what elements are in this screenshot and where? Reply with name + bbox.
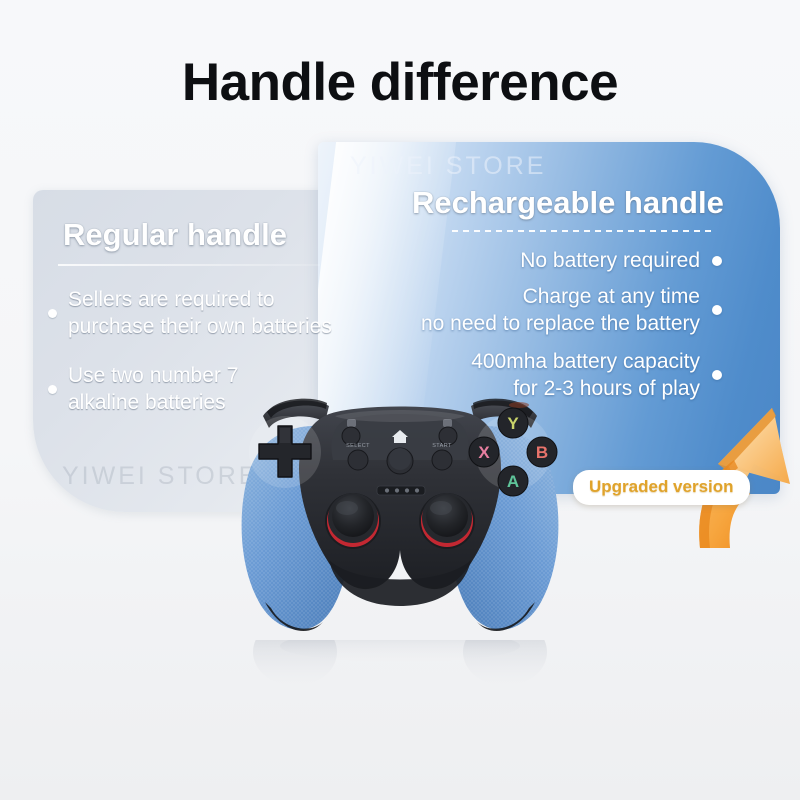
face-button-y: Y — [498, 408, 528, 438]
face-button-a: A — [498, 466, 528, 496]
bullet-line: no need to replace the battery — [421, 312, 700, 335]
bullet-line: Charge at any time — [523, 285, 700, 308]
product-comparison-image: Handle difference YIWEI STORE YIWEI STOR… — [0, 0, 800, 800]
svg-text:A: A — [507, 472, 519, 491]
bullet-line: Sellers are required to — [68, 288, 275, 311]
svg-text:X: X — [478, 443, 490, 462]
bullet-line: No battery required — [520, 249, 700, 272]
led-indicator-strip — [377, 486, 425, 495]
dpad — [249, 416, 321, 488]
regular-handle-divider — [58, 264, 320, 266]
bullet-line: Use two number 7 — [68, 364, 238, 387]
svg-text:Y: Y — [507, 414, 519, 433]
upgraded-version-badge: Upgraded version — [573, 470, 750, 505]
list-item: No battery required — [520, 247, 722, 274]
bullet-text: Use two number 7 alkaline batteries — [68, 362, 238, 416]
bullet-text: No battery required — [520, 247, 700, 274]
regular-handle-heading: Regular handle — [63, 217, 287, 253]
rechargeable-handle-heading: Rechargeable handle — [412, 185, 724, 221]
bullet-text: Sellers are required to purchase their o… — [68, 286, 332, 340]
svg-text:START: START — [432, 443, 452, 449]
bullet-line: purchase their own batteries — [68, 315, 332, 338]
bullet-dot-icon — [48, 309, 57, 318]
bullet-dot-icon — [712, 256, 722, 266]
svg-text:SELECT: SELECT — [346, 443, 370, 449]
page-title: Handle difference — [0, 52, 800, 113]
rechargeable-handle-divider — [452, 230, 714, 232]
bullet-dot-icon — [712, 305, 722, 315]
bullet-line: alkaline batteries — [68, 391, 226, 414]
game-controller-illustration: Y X B A SELECT START — [225, 390, 575, 655]
right-analog-stick — [419, 493, 475, 549]
bullet-line: 400mha battery capacity — [471, 350, 700, 373]
face-button-x: X — [469, 437, 499, 467]
svg-text:B: B — [536, 443, 548, 462]
list-item: Use two number 7 alkaline batteries — [48, 362, 238, 416]
left-analog-stick — [325, 493, 381, 549]
bullet-dot-icon — [712, 370, 722, 380]
watermark-right: YIWEI STORE — [350, 152, 546, 181]
bullet-dot-icon — [48, 385, 57, 394]
list-item: Charge at any time no need to replace th… — [421, 283, 722, 337]
face-button-b: B — [527, 437, 557, 467]
bullet-text: Charge at any time no need to replace th… — [421, 283, 700, 337]
list-item: Sellers are required to purchase their o… — [48, 286, 332, 340]
